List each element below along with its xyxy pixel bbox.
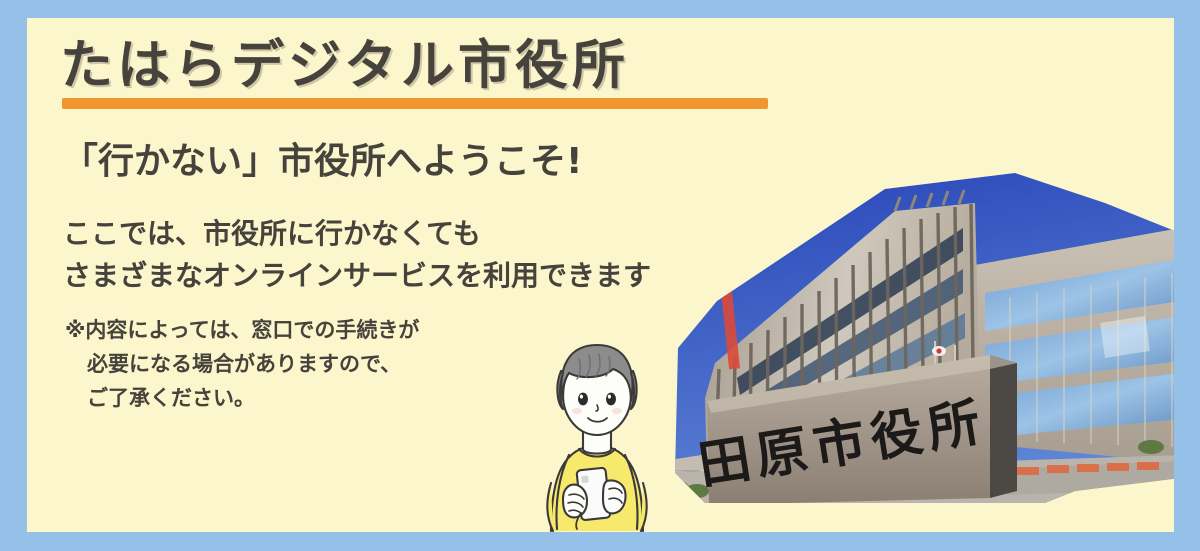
banner-panel: たはらデジタル市役所 「行かない」市役所へようこそ! ここでは、市役所に行かなく…: [27, 18, 1174, 532]
title-text: たはらデジタル市役所: [60, 30, 629, 102]
city-hall-photo: 田原市役所: [645, 173, 1174, 518]
hand-right: [603, 480, 626, 513]
eye-left: [578, 393, 588, 406]
hand-left: [563, 485, 587, 518]
person-illustration: [517, 323, 677, 532]
note-line: ご了承ください。: [65, 381, 419, 415]
body-line: ここでは、市役所に行かなくても: [63, 213, 651, 255]
banner-root: たはらデジタル市役所 「行かない」市役所へようこそ! ここでは、市役所に行かなく…: [0, 0, 1200, 551]
eye-right: [606, 393, 616, 406]
note-text: ※内容によっては、窓口での手続きが 必要になる場合がありますので、 ご了承くださ…: [65, 313, 419, 415]
monument-side: [990, 355, 1017, 498]
note-line: ※内容によっては、窓口での手続きが: [65, 313, 419, 347]
subtitle-text: 「行かない」市役所へようこそ!: [62, 138, 582, 186]
photo-content: 田原市役所: [645, 173, 1174, 518]
body-line: さまざまなオンラインサービスを利用できます: [63, 255, 651, 297]
body-text: ここでは、市役所に行かなくても さまざまなオンラインサービスを利用できます: [63, 213, 651, 297]
page-title: たはらデジタル市役所: [60, 30, 820, 110]
note-line: 必要になる場合がありますので、: [65, 347, 419, 381]
